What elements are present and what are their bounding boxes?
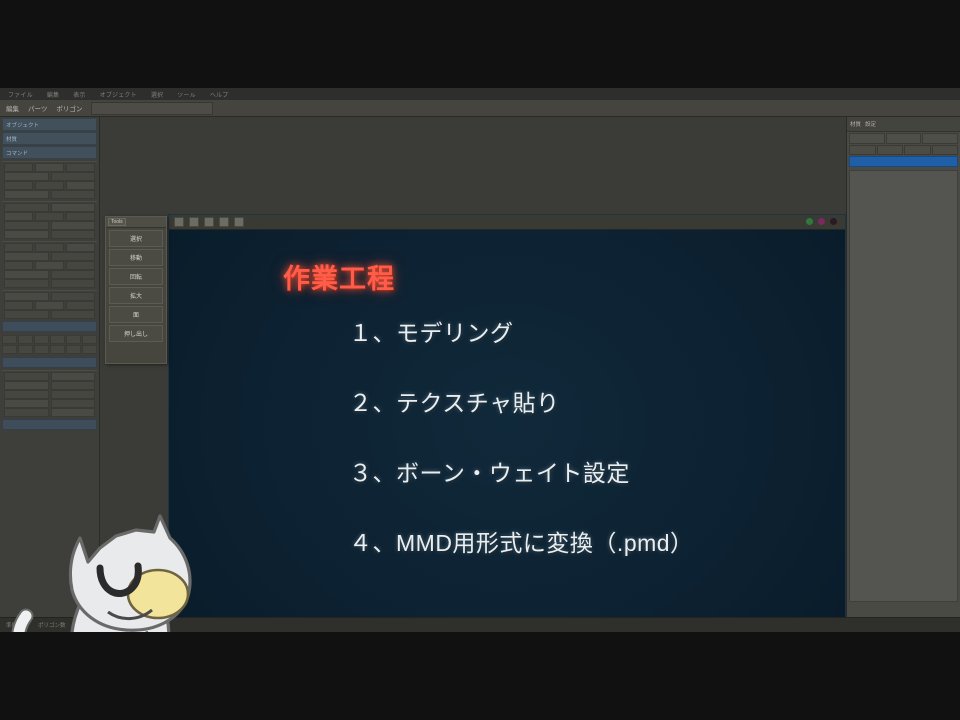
right-panel-button[interactable]: [922, 133, 958, 144]
menu-item-view[interactable]: 表示: [73, 90, 85, 99]
sidebar-row[interactable]: [2, 230, 97, 239]
slide-step-item-3: ３、ボーン・ウェイト設定: [349, 454, 846, 488]
palette-button-rotate[interactable]: 回転: [109, 268, 163, 285]
sidebar-grid-cell[interactable]: [18, 335, 33, 344]
sidebar-row[interactable]: [2, 390, 97, 399]
sidebar-grid-cell[interactable]: [82, 345, 97, 354]
grid-icon[interactable]: [234, 217, 244, 227]
viewport-indicator-dots: [806, 218, 837, 225]
pointer-icon[interactable]: [174, 217, 184, 227]
sidebar-row[interactable]: [2, 243, 97, 252]
menu-item-help[interactable]: ヘルプ: [210, 90, 229, 99]
right-panel-list-area[interactable]: [849, 170, 958, 602]
right-panel: 材質 設定: [846, 117, 960, 632]
palette-button-extrude[interactable]: 押し出し: [109, 325, 163, 342]
scale-icon[interactable]: [219, 217, 229, 227]
toolbar-item-edit[interactable]: 編集: [6, 103, 19, 113]
viewport-panel[interactable]: 作業工程 １、モデリング ２、テクスチャ貼り ３、ボーン・ウェイト設定 ４、MM…: [168, 214, 846, 632]
sidebar-row[interactable]: [2, 310, 97, 319]
sidebar-row[interactable]: [2, 252, 97, 261]
menu-item-select[interactable]: 選択: [151, 90, 163, 99]
sidebar-row[interactable]: [2, 261, 97, 270]
white-cat-mascot: [8, 508, 223, 632]
letterbox-top: [0, 0, 960, 88]
sidebar-panel-footer[interactable]: [2, 419, 97, 430]
viewport-toolbar: [169, 215, 845, 230]
dark-dot[interactable]: [830, 218, 837, 225]
right-panel-strip-cell[interactable]: [904, 145, 931, 155]
sidebar-row[interactable]: [2, 381, 97, 390]
sidebar-grid-cell[interactable]: [82, 335, 97, 344]
magenta-dot[interactable]: [818, 218, 825, 225]
sidebar-row[interactable]: [2, 292, 97, 301]
sidebar-row[interactable]: [2, 203, 97, 212]
right-panel-button[interactable]: [849, 133, 885, 144]
sidebar-grid-cell[interactable]: [34, 335, 49, 344]
sidebar-header-command[interactable]: コマンド: [2, 146, 97, 159]
sidebar-row[interactable]: [2, 181, 97, 190]
sidebar-panel-transform-header[interactable]: [2, 321, 97, 332]
sidebar-group-settings: [2, 370, 97, 417]
palette-button-face[interactable]: 面: [109, 306, 163, 323]
menu-item-tools[interactable]: ツール: [177, 90, 196, 99]
sidebar-panel-settings-header[interactable]: [2, 357, 97, 368]
right-panel-selected-material[interactable]: [849, 156, 958, 167]
palette-button-scale[interactable]: 拡大: [109, 287, 163, 304]
right-panel-button[interactable]: [886, 133, 922, 144]
sidebar-row[interactable]: [2, 190, 97, 199]
right-panel-header: 材質 設定: [847, 117, 960, 132]
slide-step-item-4: ４、MMD用形式に変換（.pmd）: [349, 524, 846, 558]
sidebar-transform-grid: [0, 334, 99, 355]
right-panel-button-row: [847, 132, 960, 145]
sidebar-grid-cell[interactable]: [50, 345, 65, 354]
sidebar-group-create: [2, 241, 97, 288]
sidebar-grid-cell[interactable]: [66, 345, 81, 354]
slide-step-item-1: １、モデリング: [349, 314, 846, 348]
sidebar-row[interactable]: [2, 212, 97, 221]
toolbar-item-parts[interactable]: パーツ: [28, 103, 47, 113]
rotate-icon[interactable]: [204, 217, 214, 227]
right-panel-strip-cell[interactable]: [849, 145, 876, 155]
main-toolbar: 編集 パーツ ポリゴン: [0, 100, 960, 117]
sidebar-grid-cell[interactable]: [2, 335, 17, 344]
green-dot[interactable]: [806, 218, 813, 225]
presentation-slide: 作業工程 １、モデリング ２、テクスチャ貼り ３、ボーン・ウェイト設定 ４、MM…: [169, 230, 845, 632]
menu-item-edit[interactable]: 編集: [47, 90, 59, 99]
screen-stage: ファイル 編集 表示 オブジェクト 選択 ツール ヘルプ 編集 パーツ ポリゴン…: [0, 0, 960, 720]
sidebar-grid-cell[interactable]: [2, 345, 17, 354]
sidebar-row[interactable]: [2, 279, 97, 288]
move-icon[interactable]: [189, 217, 199, 227]
cat-head: [70, 516, 190, 630]
toolbar-item-polygon[interactable]: ポリゴン: [56, 103, 82, 113]
slide-title: 作業工程: [283, 257, 395, 296]
palette-button-select[interactable]: 選択: [109, 230, 163, 247]
palette-header-tag: Tools: [108, 218, 126, 226]
sidebar-grid-cell[interactable]: [50, 335, 65, 344]
sidebar-grid-cell[interactable]: [18, 345, 33, 354]
menu-item-file[interactable]: ファイル: [8, 90, 33, 99]
sidebar-row[interactable]: [2, 270, 97, 279]
sidebar-row[interactable]: [2, 172, 97, 181]
sidebar-row[interactable]: [2, 301, 97, 310]
right-panel-tab-settings[interactable]: 設定: [865, 120, 876, 128]
application-window: ファイル 編集 表示 オブジェクト 選択 ツール ヘルプ 編集 パーツ ポリゴン…: [0, 88, 960, 632]
palette-header[interactable]: Tools: [106, 217, 166, 228]
sidebar-header-material[interactable]: 材質: [2, 132, 97, 145]
right-panel-strip: [847, 145, 960, 155]
slide-step-list: １、モデリング ２、テクスチャ貼り ３、ボーン・ウェイト設定 ４、MMD用形式に…: [349, 314, 846, 594]
right-panel-tab-material[interactable]: 材質: [850, 120, 861, 128]
sidebar-row[interactable]: [2, 372, 97, 381]
sidebar-header-command-label: コマンド: [3, 147, 96, 157]
toolbar-field[interactable]: [91, 102, 213, 115]
sidebar-group-select: [2, 161, 97, 199]
menu-item-object[interactable]: オブジェクト: [100, 90, 137, 99]
sidebar-row[interactable]: [2, 399, 97, 408]
slide-step-item-2: ２、テクスチャ貼り: [349, 384, 846, 418]
sidebar-header-object-label: オブジェクト: [3, 119, 96, 129]
sidebar-header-material-label: 材質: [3, 133, 96, 143]
letterbox-bottom: [0, 632, 960, 720]
sidebar-grid-cell[interactable]: [66, 335, 81, 344]
sidebar-row[interactable]: [2, 221, 97, 230]
palette-button-move[interactable]: 移動: [109, 249, 163, 266]
sidebar-grid-cell[interactable]: [34, 345, 49, 354]
sidebar-group-edit: [2, 201, 97, 239]
right-panel-strip-cell[interactable]: [877, 145, 904, 155]
floating-tool-palette[interactable]: Tools 選択 移動 回転 拡大 面 押し出し: [105, 216, 167, 364]
right-panel-strip-cell[interactable]: [932, 145, 959, 155]
sidebar-header-object[interactable]: オブジェクト: [2, 118, 97, 131]
sidebar-row[interactable]: [2, 163, 97, 172]
sidebar-row[interactable]: [2, 408, 97, 417]
sidebar-group-view: [2, 290, 97, 319]
menu-bar: ファイル 編集 表示 オブジェクト 選択 ツール ヘルプ: [0, 88, 960, 100]
